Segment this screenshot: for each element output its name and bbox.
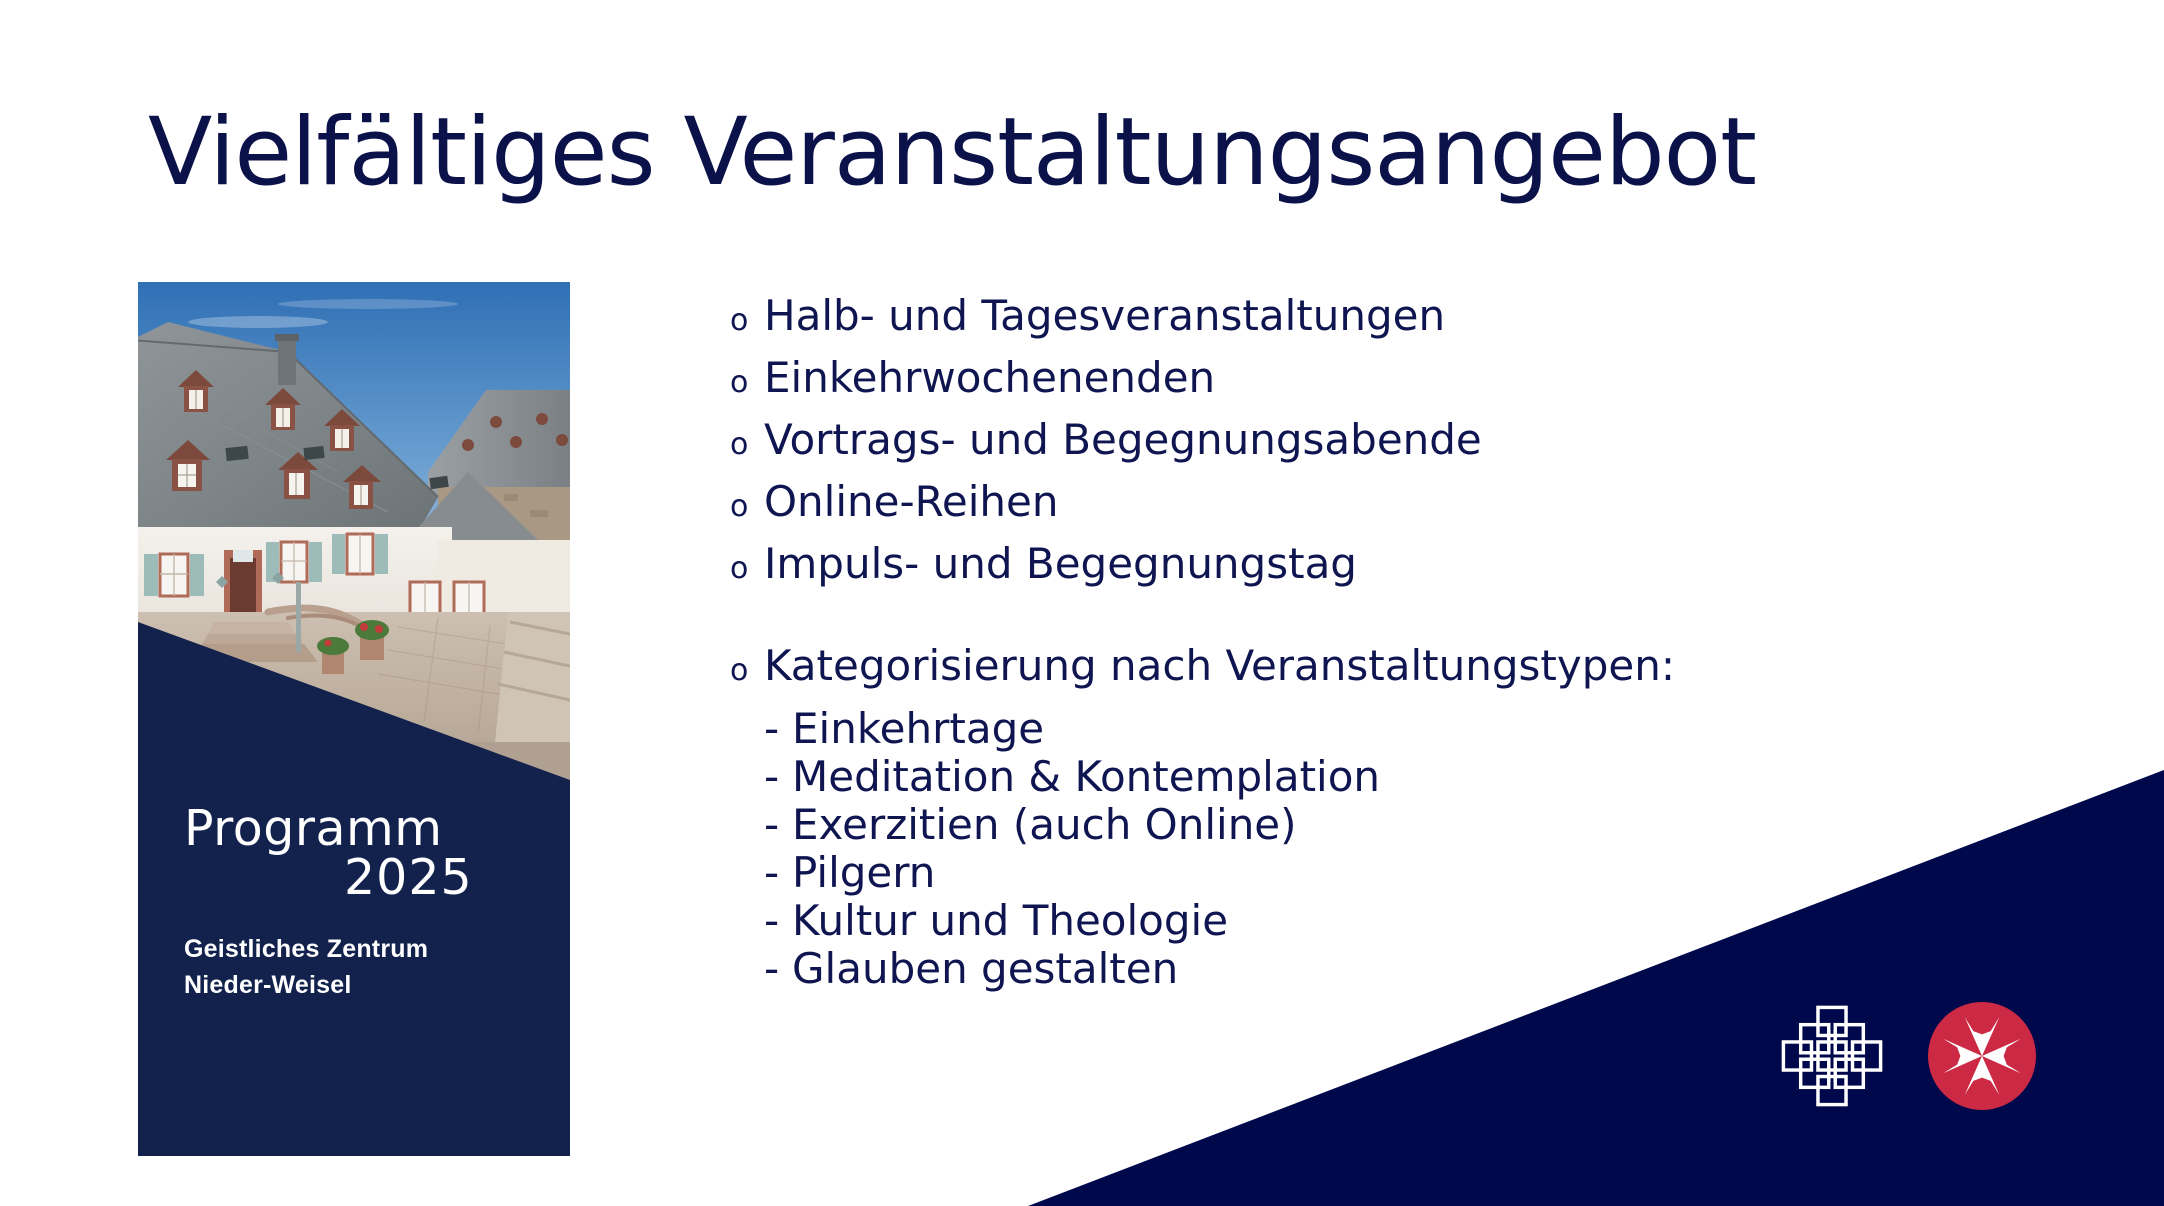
list-item-label: Vortrags- und Begegnungsabende — [764, 418, 1482, 462]
list-item-label: Einkehrwochenenden — [764, 356, 1215, 400]
list-item-categories-header: o Kategorisierung nach Veranstaltungstyp… — [730, 644, 2030, 688]
bullet-marker-icon: o — [730, 655, 764, 687]
sub-list-item: - Kultur und Theologie — [764, 899, 2030, 943]
dash-marker-icon: - — [764, 803, 792, 847]
bullet-marker-icon: o — [730, 367, 764, 399]
sub-list-item-label: Exerzitien (auch Online) — [792, 803, 1297, 847]
list-group-spacer — [730, 604, 2030, 644]
bullet-marker-icon: o — [730, 305, 764, 337]
brochure-org-line-2: Nieder-Weisel — [184, 967, 554, 1003]
bullet-marker-icon: o — [730, 553, 764, 585]
maltese-cross-icon — [1928, 1002, 2036, 1110]
brochure-navy-overlay — [138, 282, 570, 1156]
list-item-label: Impuls- und Begegnungstag — [764, 542, 1357, 586]
sub-list-item: - Pilgern — [764, 851, 2030, 895]
list-item-label: Online-Reihen — [764, 480, 1059, 524]
sub-list-item-label: Pilgern — [792, 851, 935, 895]
sub-list-item-label: Glauben gestalten — [792, 947, 1178, 991]
dash-marker-icon: - — [764, 851, 792, 895]
sub-list-item: - Exerzitien (auch Online) — [764, 803, 2030, 847]
sub-list-item: - Glauben gestalten — [764, 947, 2030, 991]
corner-logo-lockup — [1778, 996, 2058, 1116]
sub-list-item: - Meditation & Kontemplation — [764, 755, 2030, 799]
bullet-marker-icon: o — [730, 491, 764, 523]
dash-marker-icon: - — [764, 755, 792, 799]
bullet-list: o Halb- und Tagesveranstaltungen o Einke… — [730, 294, 2030, 995]
sub-list-item-label: Kultur und Theologie — [792, 899, 1228, 943]
presentation-slide: Vielfältiges Veranstaltungsangebot — [0, 0, 2164, 1206]
dash-marker-icon: - — [764, 947, 792, 991]
list-item: o Impuls- und Begegnungstag — [730, 542, 2030, 586]
johanniter-geometric-cross-icon — [1778, 1002, 1886, 1110]
list-item: o Online-Reihen — [730, 480, 2030, 524]
list-item-label: Kategorisierung nach Veranstaltungstypen… — [764, 644, 1675, 688]
dash-marker-icon: - — [764, 899, 792, 943]
sub-list-item-label: Meditation & Kontemplation — [792, 755, 1380, 799]
list-item-label: Halb- und Tagesveranstaltungen — [764, 294, 1445, 338]
brochure-cover-card: Programm 2025 Geistliches Zentrum Nieder… — [138, 282, 570, 1156]
bullet-marker-icon: o — [730, 429, 764, 461]
sub-list-item-label: Einkehrtage — [792, 707, 1044, 751]
brochure-programm-label: Programm — [184, 804, 554, 853]
list-item: o Einkehrwochenenden — [730, 356, 2030, 400]
brochure-text-block: Programm 2025 Geistliches Zentrum Nieder… — [184, 804, 554, 1003]
sub-list-item: - Einkehrtage — [764, 707, 2030, 751]
list-item: o Halb- und Tagesveranstaltungen — [730, 294, 2030, 338]
dash-marker-icon: - — [764, 707, 792, 751]
brochure-org-line-1: Geistliches Zentrum — [184, 931, 554, 967]
page-title: Vielfältiges Veranstaltungsangebot — [148, 104, 1756, 203]
list-item: o Vortrags- und Begegnungsabende — [730, 418, 2030, 462]
brochure-year: 2025 — [184, 853, 554, 903]
